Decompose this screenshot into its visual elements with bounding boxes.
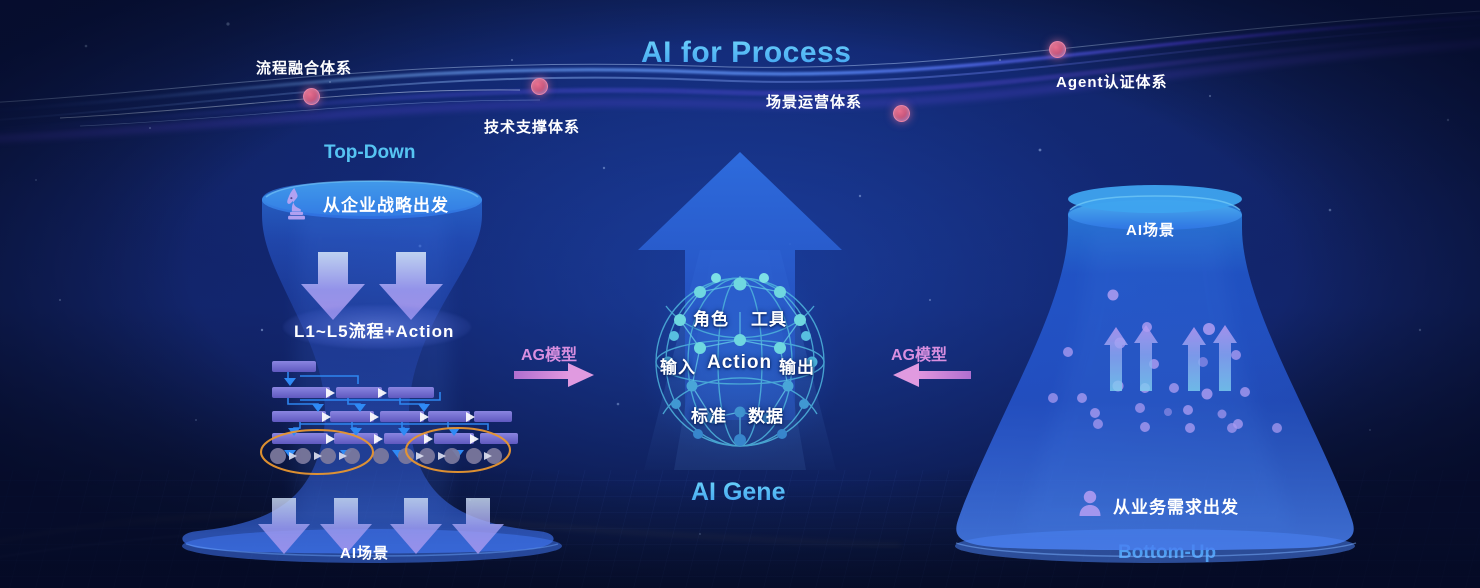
- wave-node-dot-1[interactable]: [303, 88, 320, 105]
- highlight-ellipse-2: [406, 428, 510, 472]
- process-hierarchy-diagram: [261, 361, 518, 474]
- infographic-canvas: AI for Process 流程融合体系 技术支撑体系 场景运营体系 Agen…: [0, 0, 1480, 588]
- left-funnel-top-label: 从企业战略出发: [323, 191, 449, 216]
- hex-label-action: Action: [707, 352, 772, 374]
- right-funnel-top-label: AI场景: [1126, 219, 1175, 240]
- ai-gene-label: AI Gene: [691, 478, 785, 507]
- wave-label-2: 技术支撑体系: [484, 116, 580, 137]
- arrow-left-icon: [893, 363, 971, 387]
- chess-knight-icon: [282, 185, 312, 221]
- rising-particles: [1048, 290, 1282, 434]
- person-icon: [1077, 489, 1103, 517]
- wave-node-dot-2[interactable]: [531, 78, 548, 95]
- hex-label-output: 输出: [779, 353, 815, 378]
- left-funnel-bottom-label: AI场景: [340, 542, 389, 563]
- arrow-right-icon: [514, 363, 594, 387]
- wave-label-1: 流程融合体系: [256, 57, 352, 78]
- right-funnel-bottom-label: 从业务需求出发: [1113, 493, 1239, 518]
- highlight-ellipse-1: [261, 430, 373, 474]
- hex-label-input: 输入: [660, 353, 696, 378]
- wave-label-3: 场景运营体系: [766, 91, 862, 112]
- hex-label-role: 角色: [693, 305, 729, 330]
- left-funnel-mid-label: L1~L5流程+Action: [294, 317, 454, 342]
- caption-bottom-up: Bottom-Up: [1118, 542, 1216, 564]
- ag-label-right: AG模型: [891, 341, 947, 365]
- page-title: AI for Process: [641, 36, 851, 70]
- hex-label-tool: 工具: [751, 305, 787, 330]
- wave-node-dot-4[interactable]: [1049, 41, 1066, 58]
- wave-label-4: Agent认证体系: [1056, 71, 1168, 92]
- big-up-arrow: [638, 152, 842, 420]
- wave-node-dot-3[interactable]: [893, 105, 910, 122]
- hex-label-data: 数据: [748, 402, 784, 427]
- ag-label-left: AG模型: [521, 341, 577, 365]
- caption-top-down: Top-Down: [324, 142, 415, 164]
- hex-label-standard: 标准: [691, 402, 727, 427]
